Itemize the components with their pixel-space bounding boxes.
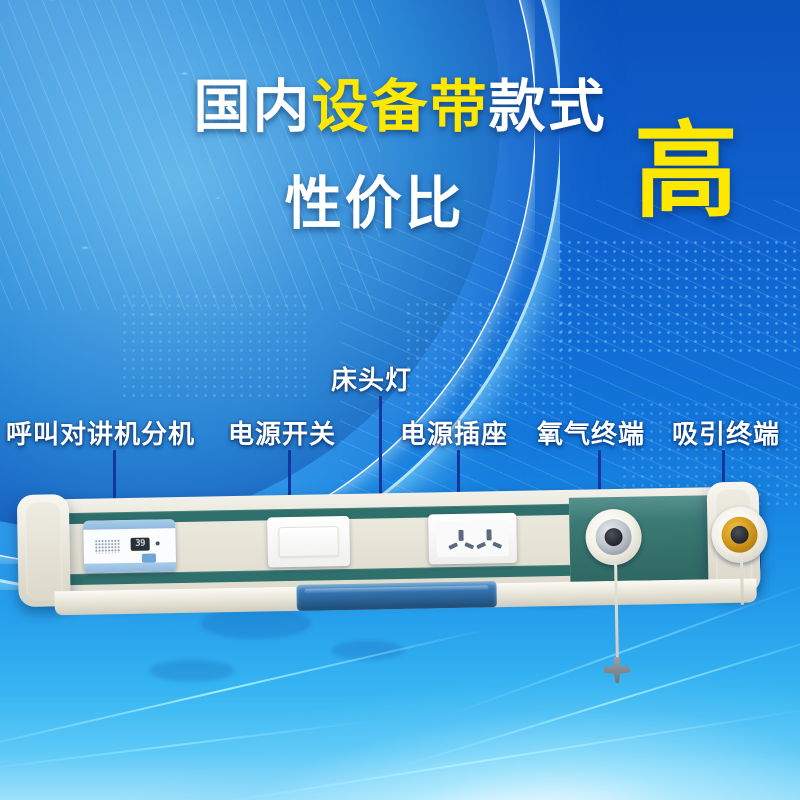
socket-outlet-left[interactable] — [448, 530, 474, 552]
socket-outlet-right[interactable] — [476, 529, 502, 551]
intercom-band-top — [83, 519, 175, 530]
callout-label-suction: 吸引终端 — [672, 414, 780, 451]
socket-pin-right — [464, 542, 474, 549]
panel-end-cap-left — [17, 494, 71, 607]
status-led-icon — [156, 541, 160, 545]
callout-label-power-switch: 电源开关 — [228, 414, 336, 451]
headline-emphasis-word: 高 — [634, 120, 738, 224]
callout-label-power-socket: 电源插座 — [400, 414, 508, 451]
speaker-grille-icon — [95, 539, 121, 553]
nurse-call-intercom[interactable]: 39 — [83, 519, 176, 573]
socket-pin-vertical — [486, 529, 491, 540]
medical-bedhead-panel: 39 — [17, 486, 785, 628]
headline-block: 国内设备带款式 性价比 高 — [0, 78, 800, 248]
power-switch[interactable] — [267, 516, 350, 567]
socket-face — [436, 520, 509, 557]
intercom-display: 39 — [131, 538, 150, 551]
headline-text-white-b: 款式 — [489, 75, 607, 139]
callout-label-oxygen: 氧气终端 — [537, 414, 645, 451]
halftone-dots-left — [120, 292, 310, 402]
bed-lamp-diffuser — [296, 581, 496, 611]
halftone-dots-top-right — [556, 238, 800, 358]
socket-pin-left — [448, 542, 458, 549]
headline-line-2: 性价比 — [285, 158, 465, 240]
headline-line-2-wrap: 性价比 高 — [0, 152, 800, 248]
promo-banner: 国内设备带款式 性价比 高 呼叫对讲机分机 电源开关 床头灯 电源插座 氧气终端… — [0, 0, 800, 800]
headline-text-yellow: 设备带 — [312, 75, 489, 139]
socket-pin-vertical — [458, 530, 463, 541]
intercom-call-button[interactable] — [142, 553, 156, 562]
socket-pin-right — [492, 542, 502, 549]
callout-label-intercom: 呼叫对讲机分机 — [6, 414, 195, 451]
callout-label-bed-lamp: 床头灯 — [331, 360, 412, 397]
end-cap-inner-left — [25, 500, 63, 601]
headline-text-white-a: 国内 — [194, 75, 312, 139]
switch-rocker[interactable] — [278, 526, 339, 557]
power-socket[interactable] — [428, 513, 517, 565]
halftone-dots-mid — [404, 300, 574, 420]
intercom-band-bottom — [84, 562, 176, 573]
socket-pin-left — [476, 542, 486, 549]
